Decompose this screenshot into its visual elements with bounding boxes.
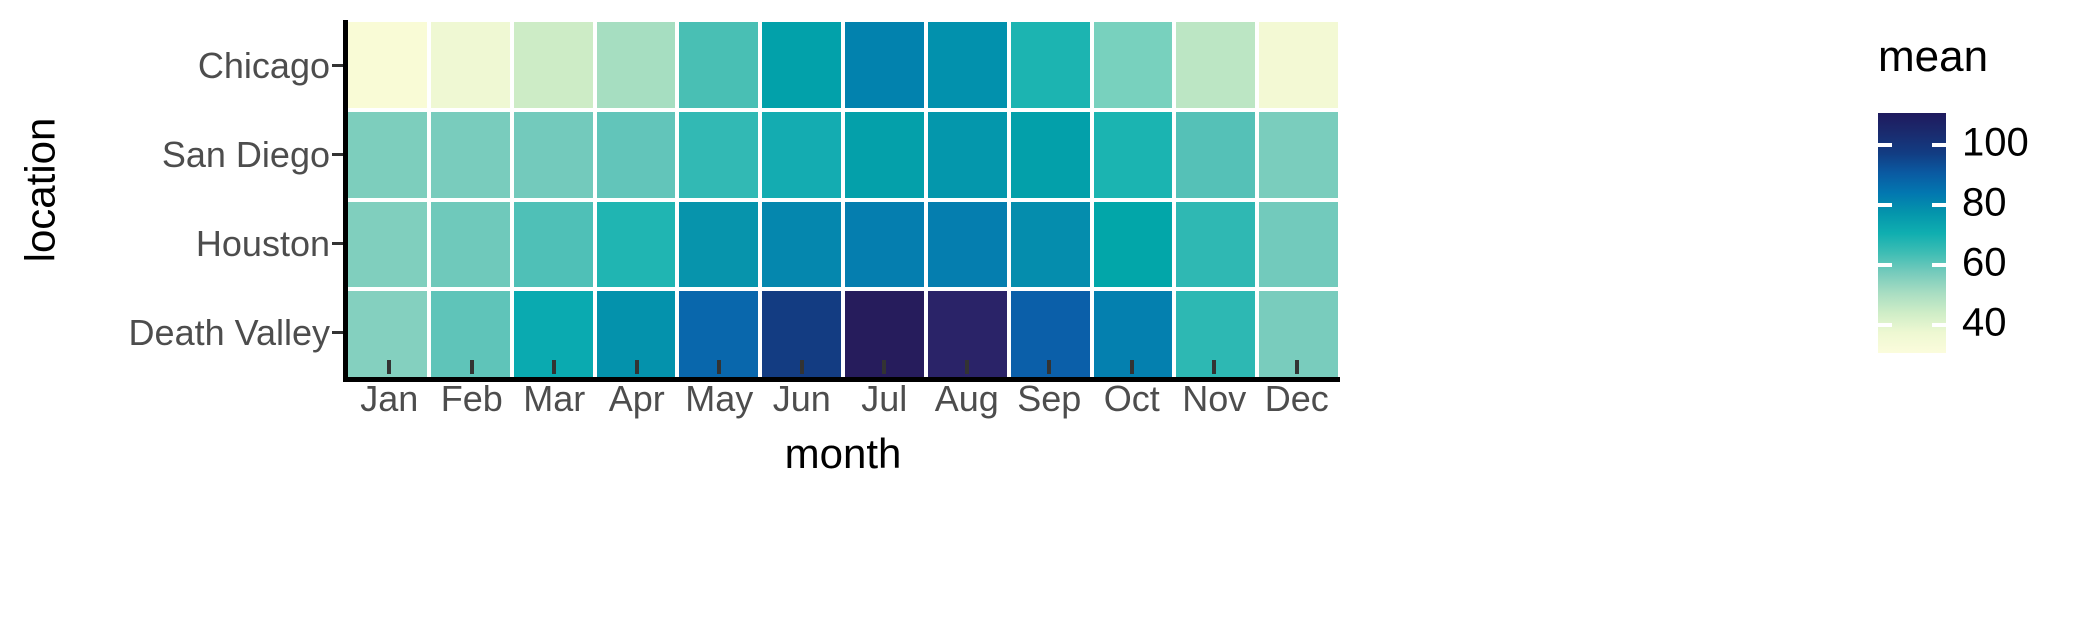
heatmap-cell xyxy=(928,202,1007,288)
x-axis-ticklabels: JanFebMarAprMayJunJulAugSepOctNovDec xyxy=(348,378,1338,430)
heatmap-cell xyxy=(679,112,758,198)
heatmap-cell xyxy=(514,202,593,288)
y-axis-ticklabel: Death Valley xyxy=(129,288,330,377)
x-axis-tickmark xyxy=(552,360,556,374)
x-axis-ticklabel: Sep xyxy=(1008,378,1091,420)
x-axis-tickmarks xyxy=(348,360,1338,374)
x-axis-tickmark xyxy=(387,360,391,374)
heatmap-cell xyxy=(431,22,510,108)
legend-colorbar-ticks xyxy=(1878,113,1946,353)
y-axis-ticklabel-text: Death Valley xyxy=(129,312,330,354)
heatmap-cell xyxy=(1011,202,1090,288)
legend-ticklabel: 60 xyxy=(1962,241,2007,286)
heatmap-cell xyxy=(348,22,427,108)
legend-tickmark xyxy=(1878,263,1892,267)
x-axis-ticklabel: Mar xyxy=(513,378,596,420)
legend-tick-labels: 100806040 xyxy=(1962,113,2100,353)
heatmap-cell xyxy=(1094,112,1173,198)
y-axis-ticklabel-text: Chicago xyxy=(198,45,330,87)
x-axis-tickmark xyxy=(470,360,474,374)
heatmap-cell xyxy=(928,112,1007,198)
heatmap-cell xyxy=(597,112,676,198)
heatmap-cell xyxy=(514,112,593,198)
heatmap-cell xyxy=(348,112,427,198)
legend: mean 100806040 xyxy=(1878,22,2100,382)
heatmap-cell xyxy=(1011,112,1090,198)
heatmap-cell xyxy=(1176,112,1255,198)
x-axis-ticklabel: Nov xyxy=(1173,378,1256,420)
y-axis-ticklabel-text: Houston xyxy=(196,223,330,265)
x-axis-ticklabel: Apr xyxy=(596,378,679,420)
heatmap-cell xyxy=(679,202,758,288)
x-axis-tickmark xyxy=(1212,360,1216,374)
heatmap-cell xyxy=(1259,112,1338,198)
x-axis-tickmark xyxy=(965,360,969,374)
heatmap-cell xyxy=(1094,22,1173,108)
legend-tickmark xyxy=(1878,143,1892,147)
heatmap-cell xyxy=(845,22,924,108)
legend-tickmark xyxy=(1932,263,1946,267)
heatmap-cell xyxy=(762,22,841,108)
x-axis-ticklabel: Jan xyxy=(348,378,431,420)
y-axis-title: location xyxy=(0,0,80,380)
plot-panel xyxy=(348,22,1338,377)
y-axis-title-label: location xyxy=(16,118,64,263)
heatmap-cell xyxy=(1259,22,1338,108)
heatmap-cell xyxy=(679,22,758,108)
x-axis-tickmark xyxy=(800,360,804,374)
x-axis-tickmark xyxy=(1047,360,1051,374)
x-axis-tickmark xyxy=(882,360,886,374)
heatmap-cell xyxy=(1011,22,1090,108)
x-axis-tickmark xyxy=(1130,360,1134,374)
x-axis-ticklabel: Dec xyxy=(1256,378,1339,420)
heatmap-cell xyxy=(597,22,676,108)
legend-tickmark xyxy=(1878,323,1892,327)
y-axis-ticklabel-text: San Diego xyxy=(162,134,330,176)
legend-title: mean xyxy=(1878,32,1988,82)
x-axis-tickmark xyxy=(717,360,721,374)
y-axis-ticklabel: San Diego xyxy=(162,111,330,200)
y-axis-ticklabel: Houston xyxy=(196,200,330,289)
x-axis-ticklabel: Jul xyxy=(843,378,926,420)
x-axis-tickmark xyxy=(635,360,639,374)
x-axis-ticklabel: Aug xyxy=(926,378,1009,420)
legend-tickmark xyxy=(1932,203,1946,207)
x-axis-ticklabel: May xyxy=(678,378,761,420)
heatmap-cell xyxy=(1176,202,1255,288)
y-axis-ticklabel: Chicago xyxy=(198,22,330,111)
heatmap-cell xyxy=(1176,22,1255,108)
legend-tickmark xyxy=(1932,143,1946,147)
heatmap-cell xyxy=(762,112,841,198)
legend-ticklabel: 80 xyxy=(1962,181,2007,226)
x-axis-title: month xyxy=(348,430,1338,478)
heatmap-figure: location ChicagoSan DiegoHoustonDeath Va… xyxy=(0,0,2100,630)
x-axis-tickmark xyxy=(1295,360,1299,374)
heatmap-cell xyxy=(845,112,924,198)
heatmap-cell xyxy=(514,22,593,108)
legend-ticklabel: 100 xyxy=(1962,121,2029,166)
heatmap-cell xyxy=(762,202,841,288)
x-axis-ticklabel: Oct xyxy=(1091,378,1174,420)
legend-tickmark xyxy=(1878,203,1892,207)
heatmap-grid xyxy=(348,22,1338,377)
heatmap-cell xyxy=(928,22,1007,108)
legend-tickmark xyxy=(1932,323,1946,327)
heatmap-cell xyxy=(431,202,510,288)
heatmap-cell xyxy=(597,202,676,288)
heatmap-cell xyxy=(348,202,427,288)
x-axis-ticklabel: Feb xyxy=(431,378,514,420)
y-axis-ticklabels: ChicagoSan DiegoHoustonDeath Valley xyxy=(90,22,330,377)
heatmap-cell xyxy=(1094,202,1173,288)
legend-ticklabel: 40 xyxy=(1962,301,2007,346)
heatmap-cell xyxy=(1259,202,1338,288)
heatmap-cell xyxy=(431,112,510,198)
x-axis-ticklabel: Jun xyxy=(761,378,844,420)
heatmap-cell xyxy=(845,202,924,288)
